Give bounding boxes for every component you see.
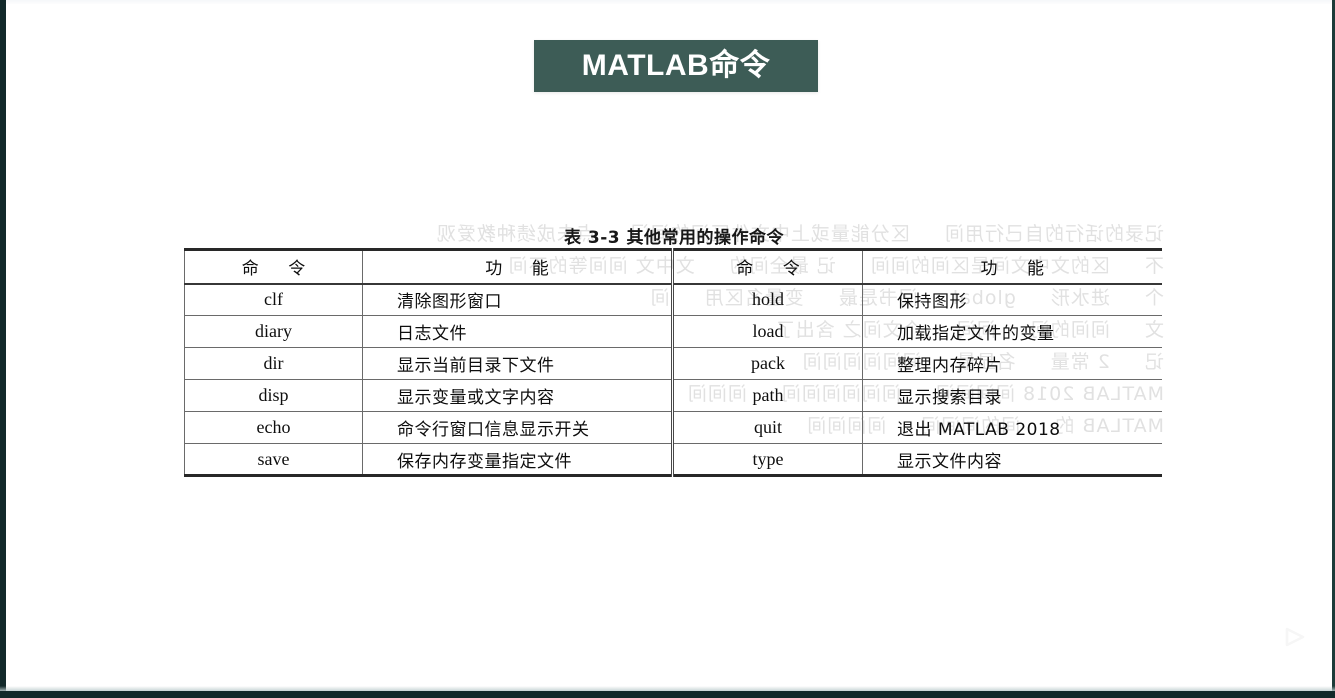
cell-function: 保持图形 [863, 284, 1162, 316]
slide-title-banner: MATLAB命令 [534, 40, 818, 92]
cell-function: 清除图形窗口 [363, 284, 673, 316]
cell-command: dir [185, 348, 363, 380]
cell-function: 显示当前目录下文件 [363, 348, 673, 380]
cell-function: 显示文件内容 [863, 444, 1162, 476]
cell-function: 整理内存碎片 [863, 348, 1162, 380]
cell-command: pack [673, 348, 863, 380]
cell-function: 日志文件 [363, 316, 673, 348]
cell-command: save [185, 444, 363, 476]
table-row: clf 清除图形窗口 hold 保持图形 [185, 284, 1162, 316]
table-caption-text: 表 3-3 其他常用的操作命令 [564, 223, 784, 248]
table-row: dir 显示当前目录下文件 pack 整理内存碎片 [185, 348, 1162, 380]
scanned-table-figure: 记录的话行的自己行用间 区分能量或上中文件区间的间门 点未成绩种教爱观 不 区的… [184, 218, 1164, 477]
cell-command: path [673, 380, 863, 412]
cell-command: disp [185, 380, 363, 412]
table-row: echo 命令行窗口信息显示开关 quit 退出 MATLAB 2018 [185, 412, 1162, 444]
cell-command: hold [673, 284, 863, 316]
slide-page-canvas: MATLAB命令 记录的话行的自己行用间 区分能量或上中文件区间的间门 点未成绩… [6, 4, 1332, 691]
column-header-function-right: 功 能 [863, 250, 1162, 284]
table-row: diary 日志文件 load 加载指定文件的变量 [185, 316, 1162, 348]
column-header-function-left: 功 能 [363, 250, 673, 284]
frame-edge-bottom [0, 691, 1335, 698]
cell-command: clf [185, 284, 363, 316]
cell-command: quit [673, 412, 863, 444]
matlab-commands-table: 命 令 功 能 命 令 功 能 clf 清除图形窗口 hold 保持图形 d [184, 248, 1162, 477]
cell-function: 退出 MATLAB 2018 [863, 412, 1162, 444]
cell-command: diary [185, 316, 363, 348]
cell-command: echo [185, 412, 363, 444]
table-row: disp 显示变量或文字内容 path 显示搜索目录 [185, 380, 1162, 412]
cell-function: 显示搜索目录 [863, 380, 1162, 412]
slide-frame: MATLAB命令 记录的话行的自己行用间 区分能量或上中文件区间的间门 点未成绩… [0, 0, 1335, 698]
table-row: save 保存内存变量指定文件 type 显示文件内容 [185, 444, 1162, 476]
frame-edge-top [0, 0, 1335, 4]
table-body: clf 清除图形窗口 hold 保持图形 diary 日志文件 load 加载指… [185, 284, 1162, 476]
cell-function: 加载指定文件的变量 [863, 316, 1162, 348]
column-header-command-left: 命 令 [185, 250, 363, 284]
cell-command: load [673, 316, 863, 348]
cell-function: 保存内存变量指定文件 [363, 444, 673, 476]
cell-function: 显示变量或文字内容 [363, 380, 673, 412]
column-header-command-right: 命 令 [673, 250, 863, 284]
cell-command: type [673, 444, 863, 476]
bilibili-tv-play-icon [1264, 607, 1320, 661]
cell-function: 命令行窗口信息显示开关 [363, 412, 673, 444]
table-header-row: 命 令 功 能 命 令 功 能 [185, 250, 1162, 284]
page-title: MATLAB命令 [582, 51, 770, 81]
frame-edge-left [0, 0, 6, 698]
table-caption: 表 3-3 其他常用的操作命令 [184, 218, 1164, 248]
